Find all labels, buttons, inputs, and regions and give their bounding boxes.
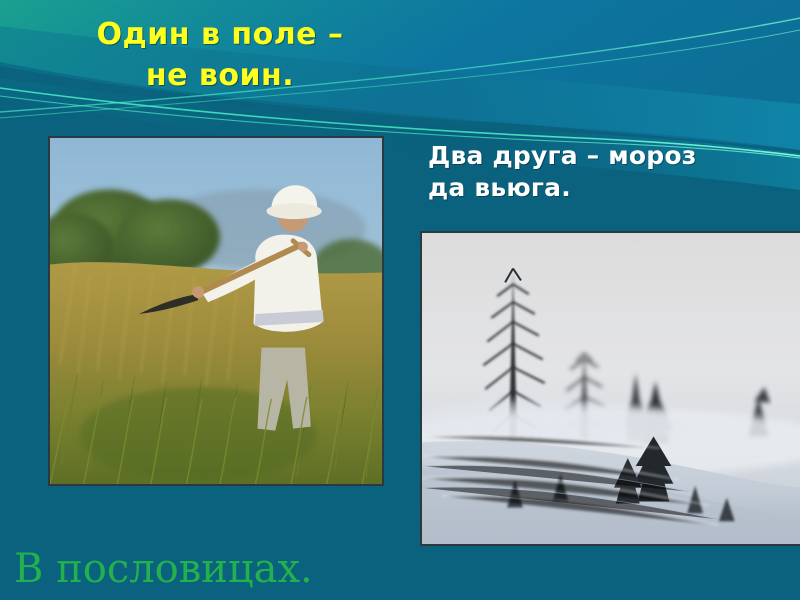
proverb-right-text: Два друга – мороз да вьюга.: [428, 140, 790, 204]
proverb-left-text: Один в поле – не воин.: [40, 14, 400, 97]
footer-caption: В пословицах.: [14, 549, 313, 589]
winter-blizzard-illustration: [422, 233, 800, 544]
man-mowing-field-photo: [48, 136, 384, 486]
winter-blizzard-trees-photo: [420, 231, 800, 546]
slide-canvas: Один в поле – не воин. Два друга – мороз…: [0, 0, 800, 600]
man-mowing-field-illustration: [50, 138, 382, 484]
